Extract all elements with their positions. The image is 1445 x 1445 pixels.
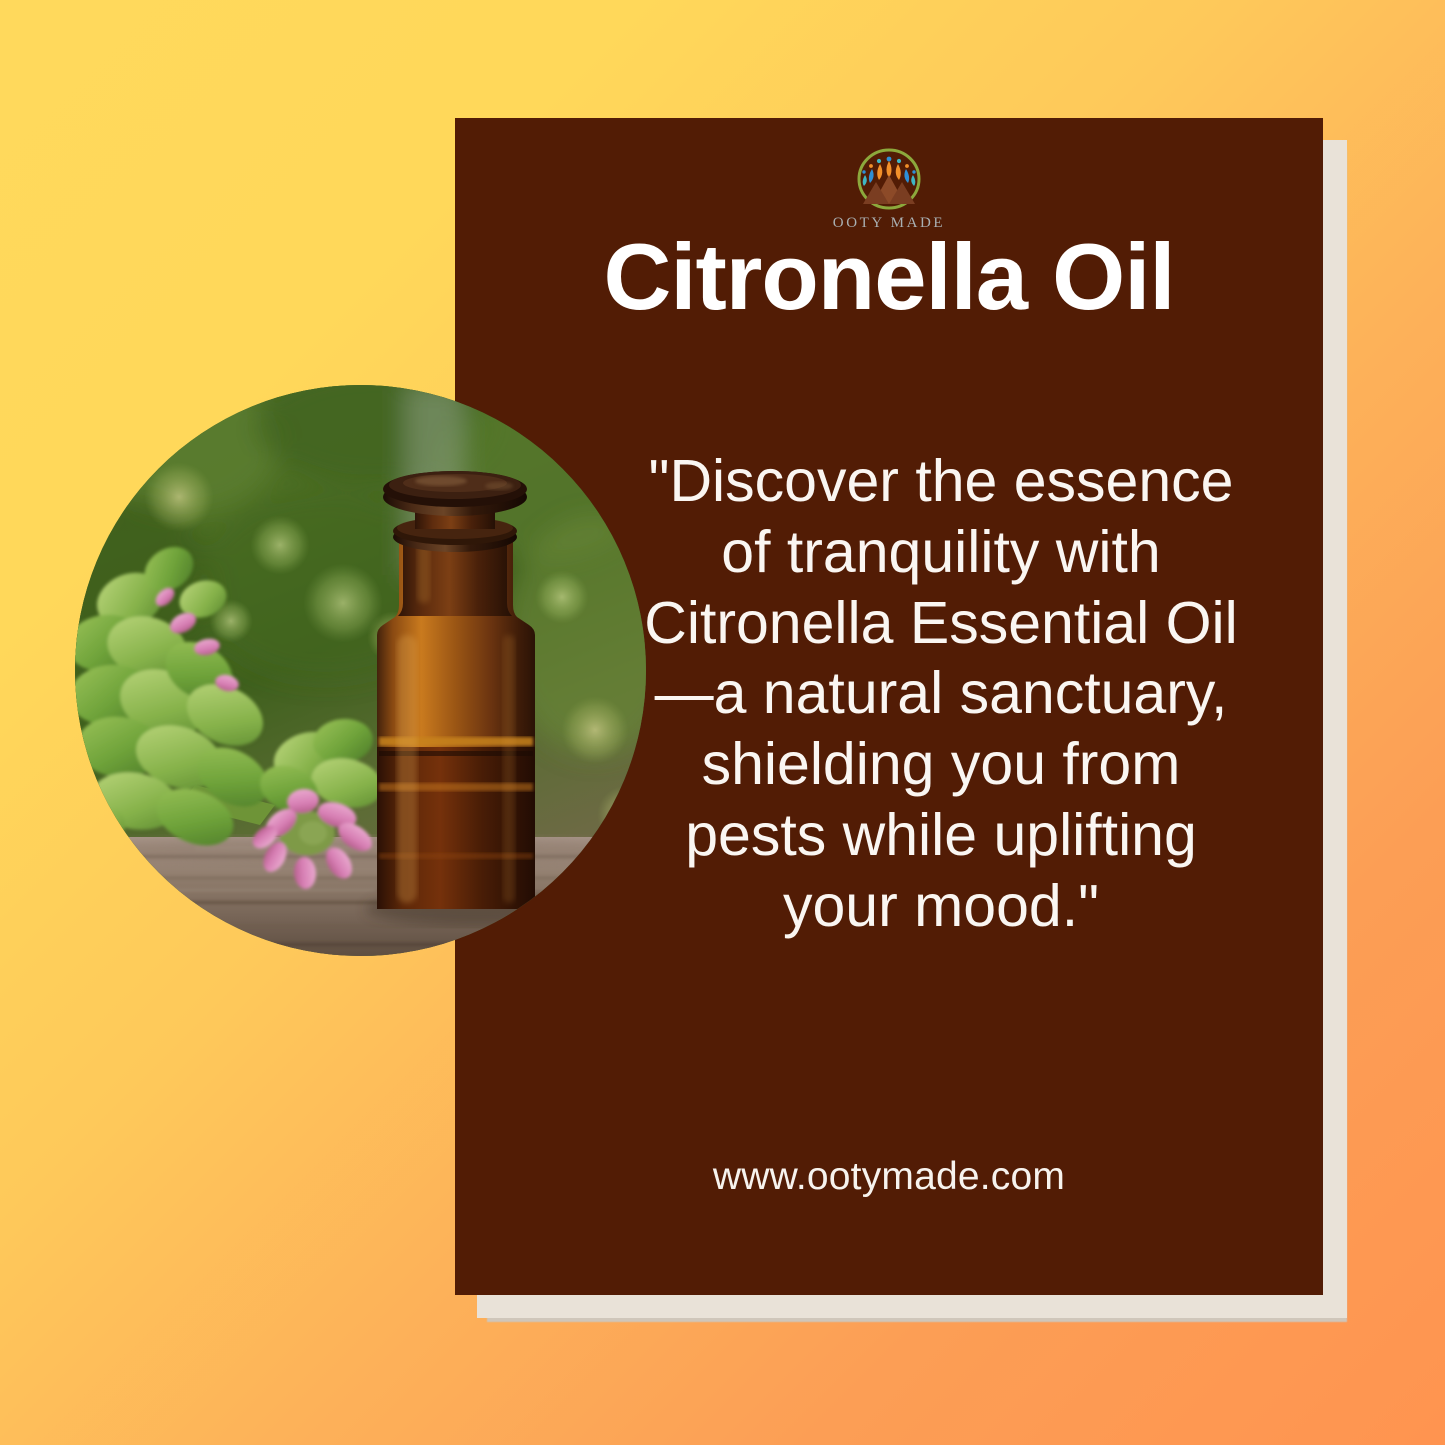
brand-logo: OOTY MADE	[455, 148, 1323, 231]
poster-canvas: OOTY MADE Citronella Oil "Discover the e…	[0, 0, 1445, 1445]
quote-text: "Discover the essence of tranquility wit…	[631, 446, 1251, 942]
mountain-lotus-logo-icon	[850, 148, 928, 215]
website-url[interactable]: www.ootymade.com	[455, 1155, 1323, 1199]
citronella-oil-bottle-photo	[75, 385, 646, 956]
page-title: Citronella Oil	[455, 228, 1323, 327]
